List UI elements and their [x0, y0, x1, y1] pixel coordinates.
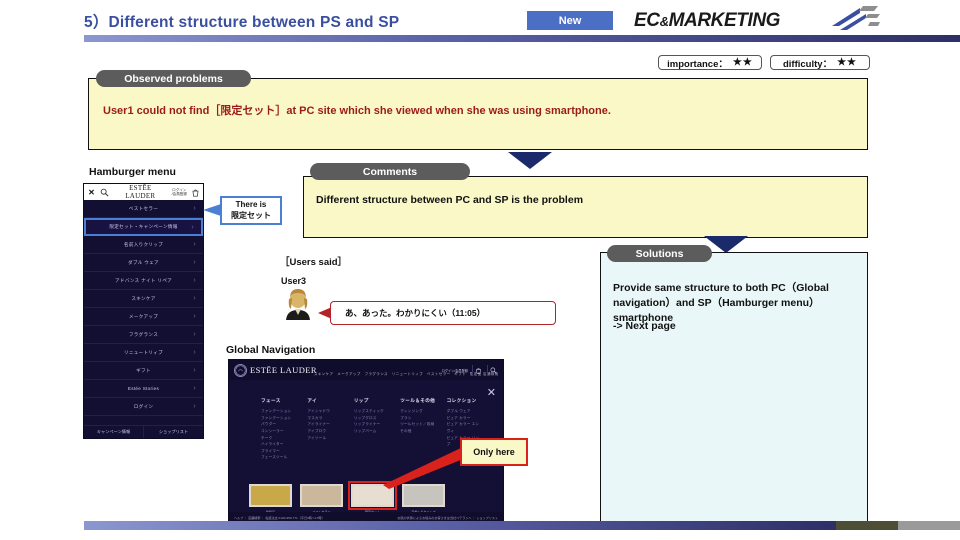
- hamburger-menu-item-label: スキンケア: [131, 296, 155, 302]
- global-nav-link[interactable]: パウダー: [261, 421, 297, 428]
- footer-segment-olive: [836, 521, 898, 530]
- global-nav-brand: ESTĒE LAUDER: [250, 365, 317, 375]
- global-nav-thumbnail[interactable]: 名前入りクリップ: [402, 484, 445, 507]
- global-nav-link[interactable]: ダブル ウェア: [447, 408, 483, 415]
- chevron-right-icon: ›: [191, 224, 194, 231]
- chevron-right-icon: ›: [193, 403, 196, 410]
- hamburger-menu-item-label: Estée Stories: [128, 386, 159, 391]
- difficulty-stars: ★★: [837, 57, 857, 68]
- hamburger-menu-label: Hamburger menu: [89, 166, 176, 178]
- global-nav-link[interactable]: ファンデーション: [261, 415, 297, 422]
- chevron-right-icon: ›: [193, 277, 196, 284]
- there-is-line-1: There is: [236, 200, 267, 210]
- importance-label: importance：: [667, 56, 728, 70]
- thumbnail-image: [251, 486, 290, 505]
- shopping-bag-icon[interactable]: [191, 188, 200, 197]
- global-nav-link[interactable]: ブラシ: [400, 415, 436, 422]
- hamburger-footer-link[interactable]: キャンペーン情報: [84, 426, 143, 438]
- hamburger-menu-item-label: ダブル ウェア: [128, 260, 159, 266]
- thumbnail-image: [404, 486, 443, 505]
- global-nav-link[interactable]: クレンジング: [400, 408, 436, 415]
- chevron-right-icon: ›: [193, 205, 196, 212]
- global-nav-link[interactable]: ツールセット／収納: [400, 421, 436, 428]
- hamburger-footer-link[interactable]: ショップリスト: [143, 426, 203, 438]
- page-title: 5）Different structure between PS and SP: [84, 10, 399, 32]
- importance-stars: ★★: [733, 57, 753, 68]
- global-nav-login-label[interactable]: ログイン/会員登録: [442, 368, 468, 373]
- difficulty-label: difficulty：: [783, 56, 832, 70]
- global-nav-columns: フェースファンデーションファンデーションパウダーコンシーラーチークハイライタープ…: [261, 398, 483, 461]
- global-nav-column-title: コレクション: [447, 398, 483, 404]
- hamburger-menu-item[interactable]: 限定セット・キャンペーン情報›: [84, 218, 203, 236]
- user-name-label: User3: [281, 276, 306, 286]
- hamburger-menu-item-label: ベストセラー: [129, 206, 158, 212]
- thumbnail-image: [302, 486, 341, 505]
- solutions-panel: Provide same structure to both PC（Global…: [600, 252, 868, 524]
- global-nav-thumbnail[interactable]: ベストセラー: [300, 484, 343, 507]
- slide-root: 5）Different structure between PS and SP …: [0, 0, 960, 540]
- global-nav-link[interactable]: フェースツール: [261, 454, 297, 461]
- global-nav-column-list: リップスティックリップグロスリップライナーリップバーム: [354, 408, 390, 435]
- hamburger-footer: キャンペーン情報ショップリスト: [84, 425, 203, 438]
- chevron-right-icon: ›: [193, 331, 196, 338]
- global-nav-footer-left: ヘルプ ｜ 店舗検索 ｜ 電話注文 0120-950-771（平日9時～17時）: [234, 515, 325, 520]
- hamburger-menu-item[interactable]: 名前入りクリップ›: [84, 236, 203, 254]
- hamburger-menu-item[interactable]: ベストセラー›: [84, 200, 203, 218]
- hamburger-menu-item-label: リニュートリィブ: [124, 350, 163, 356]
- observed-problems-tab: Observed problems: [96, 70, 251, 87]
- global-nav-link[interactable]: ファンデーション: [261, 408, 297, 415]
- there-is-line-2: 限定セット: [231, 211, 271, 221]
- hamburger-menu-item[interactable]: Estée Stories›: [84, 380, 203, 398]
- global-nav-link[interactable]: リップスティック: [354, 408, 390, 415]
- global-nav-thumbnail[interactable]: 限定セット: [351, 484, 394, 507]
- hamburger-menu-list: ベストセラー›限定セット・キャンペーン情報›名前入りクリップ›ダブル ウェア›ア…: [84, 200, 203, 416]
- brand-logo-ec: EC: [634, 10, 660, 31]
- global-navigation-label: Global Navigation: [226, 344, 315, 356]
- global-nav-footer-right: お肌の状態によるお悩みのお客さまは当社ベテランへ ｜ ショップリスト: [397, 515, 498, 520]
- hamburger-menu-item-label: 名前入りクリップ: [124, 242, 163, 248]
- global-nav-column: ツール＆その他クレンジングブラシツールセット／収納その他: [400, 398, 436, 461]
- users-said-heading: ［Users said］: [280, 254, 347, 268]
- down-arrow-to-comments: [508, 152, 552, 169]
- user-quote-bubble: あ、あった。わかりにくい（11:05）: [330, 301, 556, 325]
- chevron-right-icon: ›: [193, 349, 196, 356]
- search-icon[interactable]: [487, 365, 498, 376]
- thumbnail-image: [353, 486, 392, 505]
- hamburger-menu-item-label: ログイン: [134, 404, 154, 410]
- global-nav-link[interactable]: マスカラ: [307, 415, 343, 422]
- global-nav-link[interactable]: チーク: [261, 435, 297, 442]
- global-nav-column-list: アイシャドウマスカラアイライナーアイブロウアイツール: [307, 408, 343, 441]
- global-nav-thumbnails: 新製品ベストセラー限定セット名前入りクリップ: [249, 484, 445, 507]
- comments-tab: Comments: [310, 163, 470, 180]
- new-badge: New: [527, 11, 613, 30]
- hamburger-menu-item[interactable]: フラグランス›: [84, 326, 203, 344]
- hamburger-topbar: ✕ ESTĒE LAUDER ログイン /会員登録: [84, 184, 203, 200]
- chevron-right-icon: ›: [193, 385, 196, 392]
- global-nav-column-list: クレンジングブラシツールセット／収納その他: [400, 408, 436, 435]
- global-nav-link[interactable]: ピュア カラー: [447, 415, 483, 422]
- observed-problems-text: User1 could not find［限定セット］at PC site wh…: [103, 104, 611, 120]
- hamburger-brand: ESTĒE LAUDER: [113, 184, 168, 200]
- global-nav-column-title: ツール＆その他: [400, 398, 436, 404]
- hamburger-menu-item-label: ギフト: [136, 368, 151, 374]
- global-nav-column-title: フェース: [261, 398, 297, 404]
- hamburger-menu-item-label: アドバンス ナイト リペア: [115, 278, 172, 284]
- footer-divider: [84, 521, 960, 530]
- global-nav-column: リップリップスティックリップグロスリップライナーリップバーム: [354, 398, 390, 461]
- only-here-callout: Only here: [460, 438, 528, 466]
- global-nav-column-title: アイ: [307, 398, 343, 404]
- global-nav-link[interactable]: コンシーラー: [261, 428, 297, 435]
- global-nav-link[interactable]: アイブロウ: [307, 428, 343, 435]
- footer-segment-gray: [898, 521, 960, 530]
- title-divider: [84, 35, 960, 42]
- global-nav-link[interactable]: リップバーム: [354, 428, 390, 435]
- there-is-callout-tail: [203, 204, 221, 216]
- chevron-right-icon: ›: [193, 295, 196, 302]
- global-nav-link[interactable]: アイシャドウ: [307, 408, 343, 415]
- search-icon[interactable]: [100, 188, 109, 197]
- hamburger-menu-item[interactable]: ログイン›: [84, 398, 203, 416]
- global-nav-link[interactable]: リップグロス: [354, 415, 390, 422]
- global-nav-link[interactable]: アイツール: [307, 435, 343, 442]
- user-avatar-icon: [283, 288, 313, 320]
- shopping-bag-icon[interactable]: [472, 365, 483, 376]
- footer-segment-main: [84, 521, 836, 530]
- login-line-2: /会員登録: [172, 192, 187, 196]
- global-nav-link[interactable]: ハイライター: [261, 441, 297, 448]
- close-icon[interactable]: ✕: [487, 386, 496, 399]
- hamburger-login-link[interactable]: ログイン /会員登録: [172, 188, 187, 196]
- hamburger-menu-item-label: 限定セット・キャンペーン情報: [109, 224, 177, 230]
- chevron-right-icon: ›: [193, 367, 196, 374]
- there-is-callout: There is 限定セット: [220, 196, 282, 225]
- global-nav-link[interactable]: プライマー: [261, 448, 297, 455]
- importance-badge: importance： ★★: [658, 55, 762, 70]
- speed-lines-icon: [830, 4, 880, 32]
- global-nav-column-list: ファンデーションファンデーションパウダーコンシーラーチークハイライタープライマー…: [261, 408, 297, 461]
- hamburger-menu-item[interactable]: スキンケア›: [84, 290, 203, 308]
- global-nav-link[interactable]: アイライナー: [307, 421, 343, 428]
- global-nav-link[interactable]: ピュア カラー エンヴィ: [447, 421, 483, 434]
- comments-text: Different structure between PC and SP is…: [316, 193, 583, 208]
- hamburger-menu-item[interactable]: メークアップ›: [84, 308, 203, 326]
- global-nav-utilities: ログイン/会員登録: [442, 365, 498, 376]
- chevron-right-icon: ›: [193, 241, 196, 248]
- chevron-right-icon: ›: [193, 313, 196, 320]
- solutions-next-page: -> Next page: [613, 319, 676, 334]
- observed-problems-panel: User1 could not find［限定セット］at PC site wh…: [88, 78, 868, 150]
- hamburger-menu-item[interactable]: ギフト›: [84, 362, 203, 380]
- global-nav-column: フェースファンデーションファンデーションパウダーコンシーラーチークハイライタープ…: [261, 398, 297, 461]
- global-nav-link[interactable]: リップライナー: [354, 421, 390, 428]
- brand-logo-marketing: MARKETING: [669, 10, 780, 31]
- solutions-tab: Solutions: [607, 245, 712, 262]
- global-nav-header: ESTĒE LAUDER スキンケア メークアップ フラグランス リニュートリィ…: [229, 360, 503, 380]
- close-icon[interactable]: ✕: [87, 188, 96, 197]
- hamburger-menu-item[interactable]: ダブル ウェア›: [84, 254, 203, 272]
- global-nav-column: アイアイシャドウマスカラアイライナーアイブロウアイツール: [307, 398, 343, 461]
- hamburger-menu-item-label: メークアップ: [129, 314, 158, 320]
- comments-panel: Different structure between PC and SP is…: [303, 176, 868, 238]
- difficulty-badge: difficulty： ★★: [770, 55, 870, 70]
- crest-logo-icon: [234, 364, 247, 377]
- brand-logo-amp: &: [660, 14, 669, 29]
- hamburger-menu-screenshot: ✕ ESTĒE LAUDER ログイン /会員登録 ベストセラー›限定セット・キ…: [83, 183, 204, 439]
- hamburger-menu-item[interactable]: アドバンス ナイト リペア›: [84, 272, 203, 290]
- global-nav-link[interactable]: その他: [400, 428, 436, 435]
- global-nav-column-title: リップ: [354, 398, 390, 404]
- global-nav-thumbnail[interactable]: 新製品: [249, 484, 292, 507]
- brand-logo: EC&MARKETING: [634, 10, 780, 32]
- chevron-right-icon: ›: [193, 259, 196, 266]
- hamburger-menu-item[interactable]: リニュートリィブ›: [84, 344, 203, 362]
- hamburger-menu-item-label: フラグランス: [129, 332, 158, 338]
